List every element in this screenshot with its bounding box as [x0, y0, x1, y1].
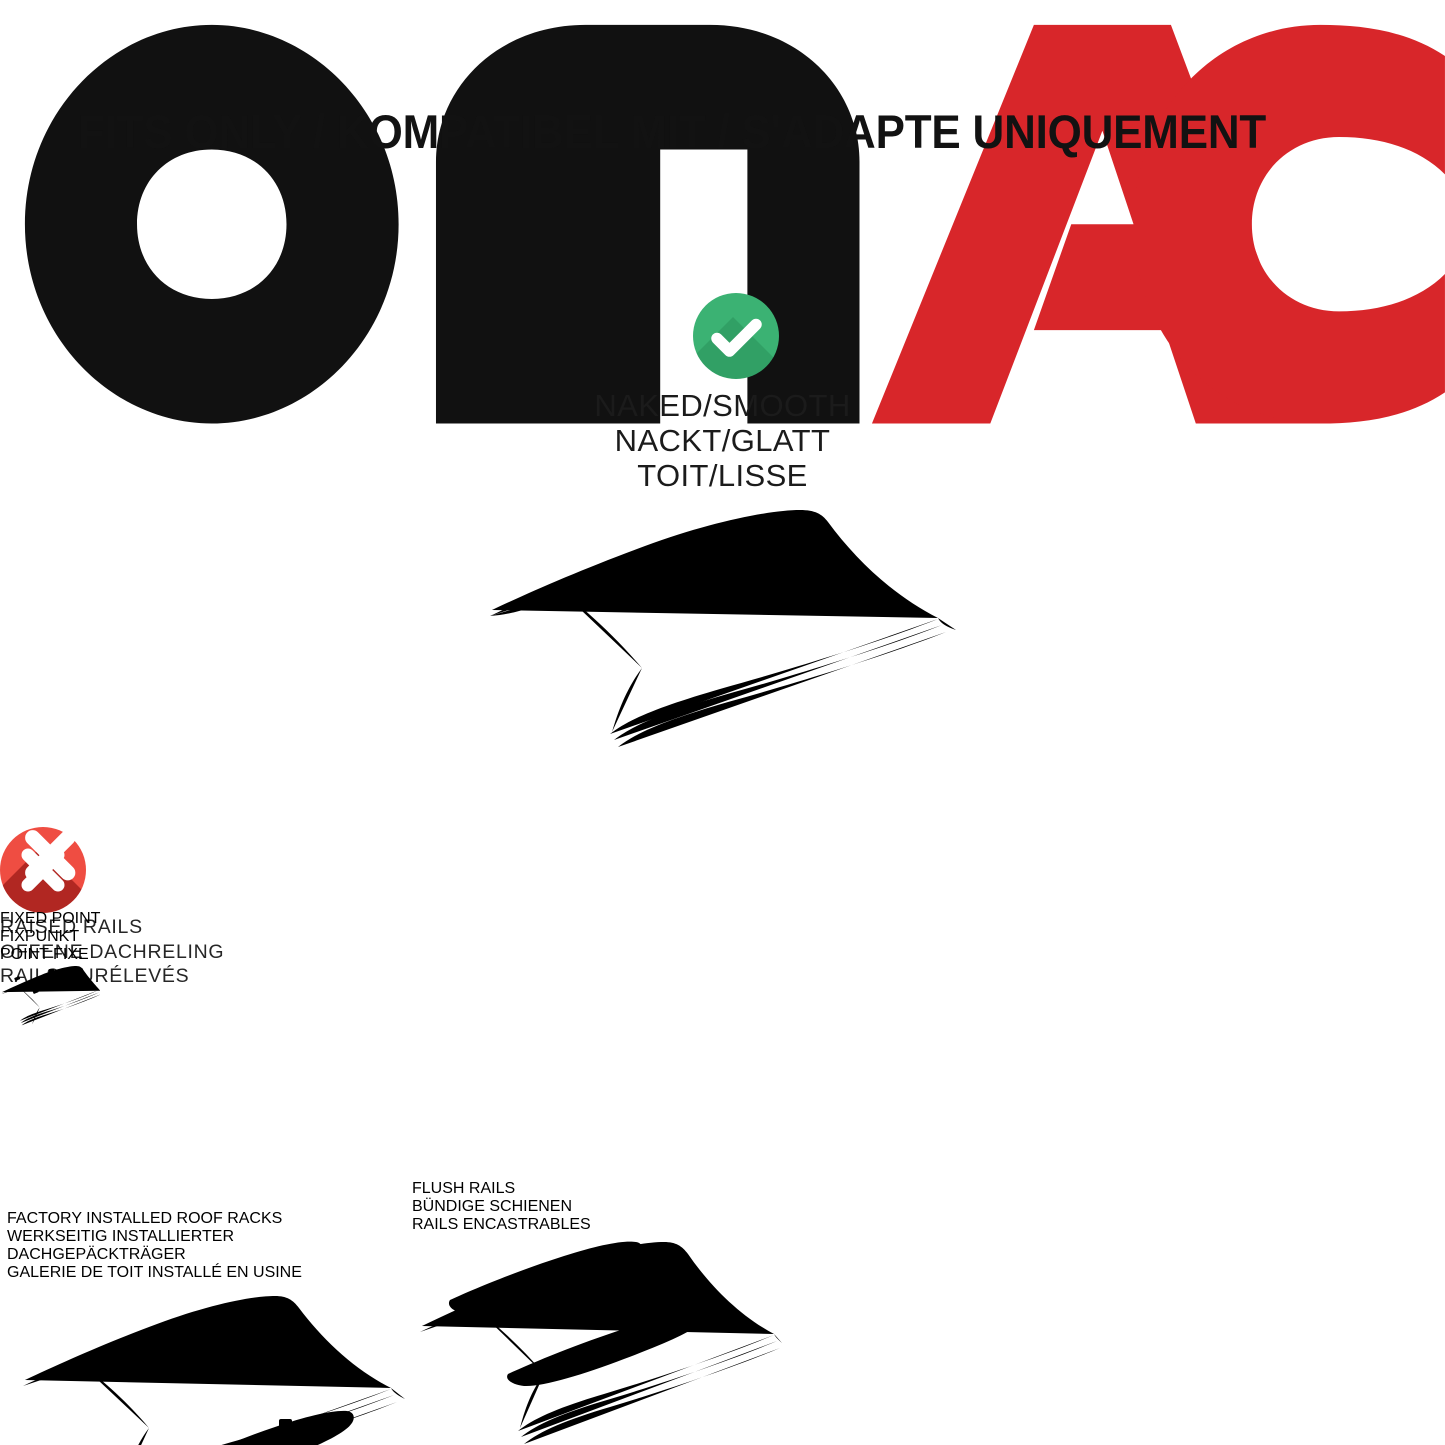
- red-x-circle-icon: [0, 805, 100, 910]
- compatible-labels: NAKED/SMOOTH NACKT/GLATT TOIT/LISSE: [395, 388, 1050, 493]
- car-roof-factory-roof-racks-illustration: [7, 1282, 407, 1445]
- incompatible-item-flush-rails: FLUSH RAILS BÜNDIGE SCHIENEN RAILS ENCAS…: [412, 805, 782, 1275]
- incompatible-labels: FIXED POINT FIXPUNKT POINT FIXE: [0, 910, 100, 964]
- incompatible-section: FACTORY INSTALLED ROOF RACKS WERKSEITIG …: [0, 805, 1445, 1275]
- label-line-1: FLUSH RAILS: [412, 1180, 782, 1198]
- label-line-2: FIXPUNKT: [0, 928, 100, 946]
- car-roof-flush-rails-illustration: [412, 1234, 782, 1445]
- compatible-section: NAKED/SMOOTH NACKT/GLATT TOIT/LISSE: [0, 0, 1445, 760]
- x-glyph: [412, 805, 782, 1175]
- red-x-circle-icon: [412, 805, 782, 1180]
- car-roof-naked-smooth-illustration: [470, 488, 990, 758]
- label-line-3: POINT FIXE: [0, 946, 100, 964]
- incompatible-labels: FLUSH RAILS BÜNDIGE SCHIENEN RAILS ENCAS…: [412, 1180, 782, 1234]
- compatibility-infographic: FITS ONLY / KOMPATIBEL MIT / S'ADAPTE UN…: [0, 0, 1445, 1445]
- compatible-label-de: NACKT/GLATT: [395, 423, 1050, 458]
- car-roof-fixed-point-illustration: [0, 964, 100, 1050]
- x-glyph: [0, 805, 100, 905]
- check-glyph: [693, 293, 779, 379]
- label-line-3: RAILS ENCASTRABLES: [412, 1216, 782, 1234]
- compatible-label-en: NAKED/SMOOTH: [395, 388, 1050, 423]
- green-check-circle-icon: [693, 293, 779, 379]
- incompatible-item-fixed-point: FIXED POINT FIXPUNKT POINT FIXE: [0, 805, 100, 1275]
- label-line-2: BÜNDIGE SCHIENEN: [412, 1198, 782, 1216]
- label-line-1: FIXED POINT: [0, 910, 100, 928]
